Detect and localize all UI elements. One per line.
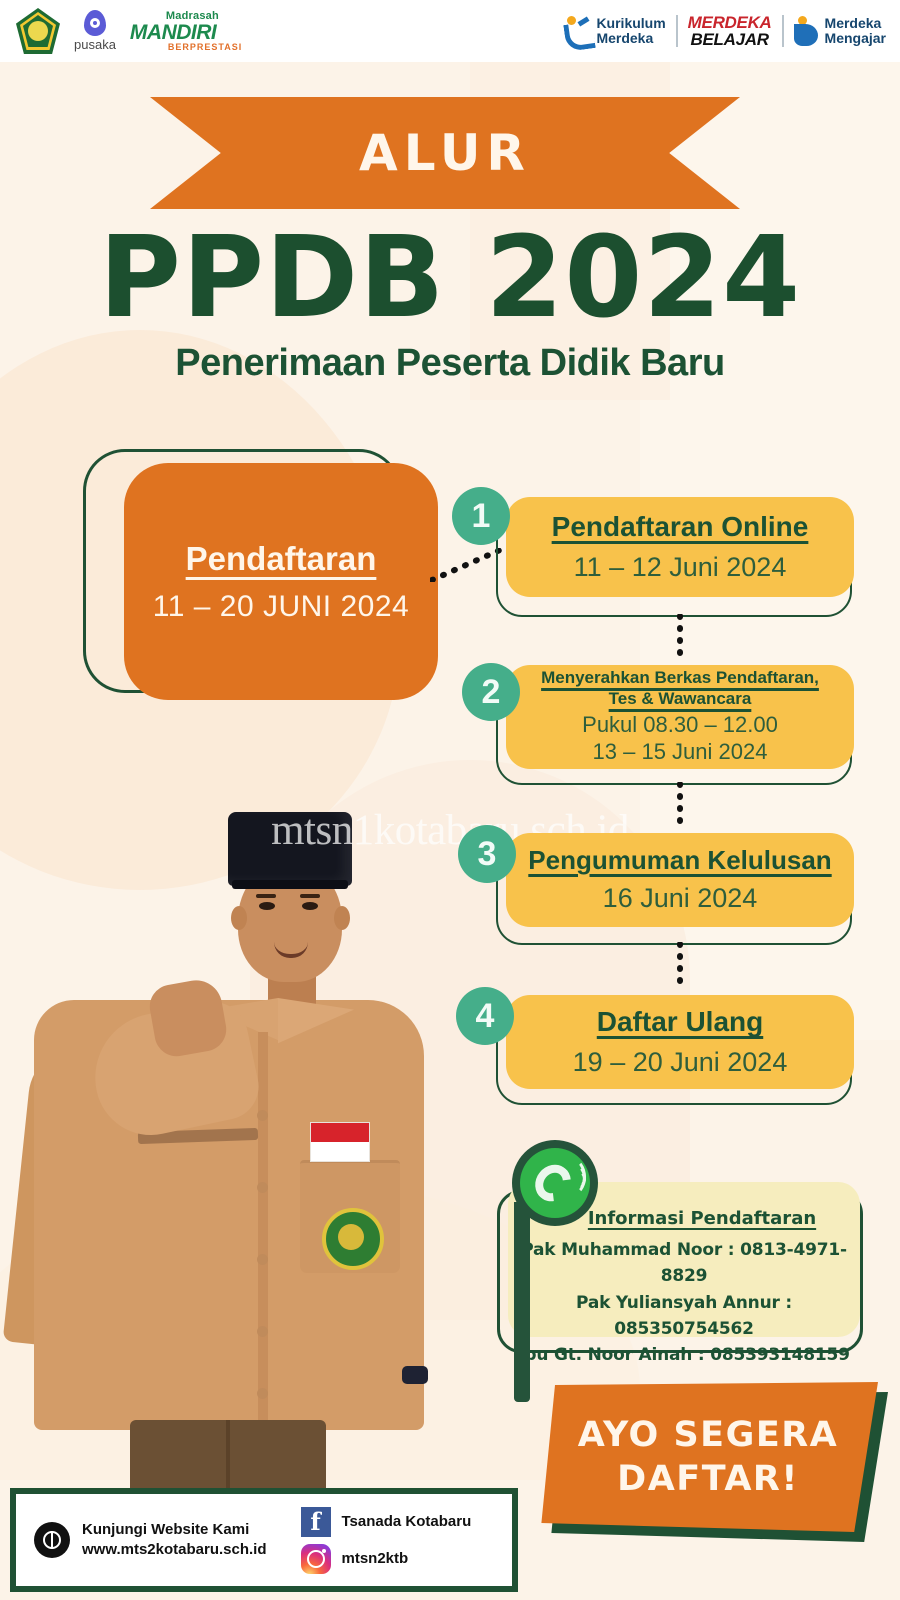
cta-line-1: AYO SEGERA [578, 1415, 839, 1455]
footer-social-block: f Tsanada Kotabaru mtsn2ktb [267, 1507, 472, 1574]
kurikulum-merdeka-line1: Kurikulum [596, 16, 665, 31]
footer-website-url[interactable]: www.mts2kotabaru.sch.id [82, 1540, 267, 1560]
kurikulum-merdeka-mark-icon [565, 16, 591, 46]
footer-facebook-handle: Tsanada Kotabaru [342, 1513, 472, 1530]
instagram-icon [301, 1544, 331, 1574]
step-1-line-1: 11 – 12 Juni 2024 [574, 551, 787, 584]
footer-instagram-handle: mtsn2ktb [342, 1550, 409, 1567]
poster-root: pusaka Madrasah MANDIRI BERPRESTASI Kuri… [0, 0, 900, 1600]
pusaka-logo: pusaka [74, 10, 116, 52]
step-4-title: Daftar Ulang [597, 1005, 763, 1039]
merdeka-mengajar-mark-icon [794, 16, 820, 46]
connector-dots-1-2 [676, 614, 684, 666]
footer-bar: Kunjungi Website Kami www.mts2kotabaru.s… [10, 1488, 518, 1592]
contact-entry-2: Pak Yuliansyah Annur : 085350754562 [508, 1290, 860, 1343]
step-2-line-2: 13 – 15 Juni 2024 [593, 739, 768, 766]
cta-line-2: DAFTAR! [617, 1459, 799, 1499]
merdeka-belajar-line1: MERDEKA [688, 14, 772, 31]
step-1-title: Pendaftaran Online [552, 510, 809, 544]
footer-instagram-row[interactable]: mtsn2ktb [301, 1544, 472, 1574]
step-1-number: 1 [452, 487, 510, 545]
merdeka-belajar-logo: MERDEKA BELAJAR [688, 14, 772, 48]
merdeka-mengajar-logo: Merdeka Mengajar [794, 16, 886, 46]
contact-entry-3: Ibu Gt. Noor Ainah : 085393148159 [508, 1342, 860, 1368]
cta-banner[interactable]: AYO SEGERA DAFTAR! [538, 1382, 878, 1532]
contact-entry-1: Pak Muhammad Noor : 0813-4971-8829 [508, 1237, 860, 1290]
step-3-title: Pengumuman Kelulusan [528, 845, 831, 877]
globe-icon [34, 1522, 70, 1558]
kemenag-logo [16, 8, 60, 54]
step-2-number: 2 [462, 663, 520, 721]
step-3-line-1: 16 Juni 2024 [603, 882, 758, 915]
footer-website-label: Kunjungi Website Kami [82, 1520, 267, 1540]
connector-dots-2-3 [676, 782, 684, 834]
kurikulum-merdeka-line2: Merdeka [596, 31, 665, 46]
step-4-number: 4 [456, 987, 514, 1045]
kurikulum-merdeka-logo: Kurikulum Merdeka [565, 16, 665, 46]
footer-website-block[interactable]: Kunjungi Website Kami www.mts2kotabaru.s… [16, 1520, 267, 1561]
phone-icon [512, 1140, 598, 1226]
merdeka-mengajar-line1: Merdeka [825, 16, 886, 31]
merdeka-mengajar-line2: Mengajar [825, 31, 886, 46]
merdeka-belajar-line2: BELAJAR [691, 31, 769, 48]
step-3-number: 3 [458, 825, 516, 883]
step-2-line-1: Pukul 08.30 – 12.00 [582, 712, 778, 739]
logo-divider-1 [676, 15, 678, 47]
pusaka-drop-icon [84, 10, 106, 36]
header-logos-right: Kurikulum Merdeka MERDEKA BELAJAR Merdek… [565, 14, 900, 48]
facebook-icon: f [301, 1507, 331, 1537]
mandiri-line1: Madrasah [166, 11, 242, 22]
step-2-title: Menyerahkan Berkas Pendaftaran, Tes & Wa… [541, 668, 819, 709]
mandiri-line3: BERPRESTASI [168, 43, 242, 52]
header-logos-left: pusaka Madrasah MANDIRI BERPRESTASI [0, 8, 242, 54]
footer-facebook-row[interactable]: f Tsanada Kotabaru [301, 1507, 472, 1537]
pusaka-label: pusaka [74, 37, 116, 52]
mandiri-line2: MANDIRI [130, 22, 242, 43]
step-4-line-1: 19 – 20 Juni 2024 [573, 1046, 788, 1079]
logo-divider-2 [782, 15, 784, 47]
header-logo-bar: pusaka Madrasah MANDIRI BERPRESTASI Kuri… [0, 0, 900, 62]
connector-dots-3-4 [676, 942, 684, 994]
madrasah-mandiri-logo: Madrasah MANDIRI BERPRESTASI [130, 11, 242, 52]
